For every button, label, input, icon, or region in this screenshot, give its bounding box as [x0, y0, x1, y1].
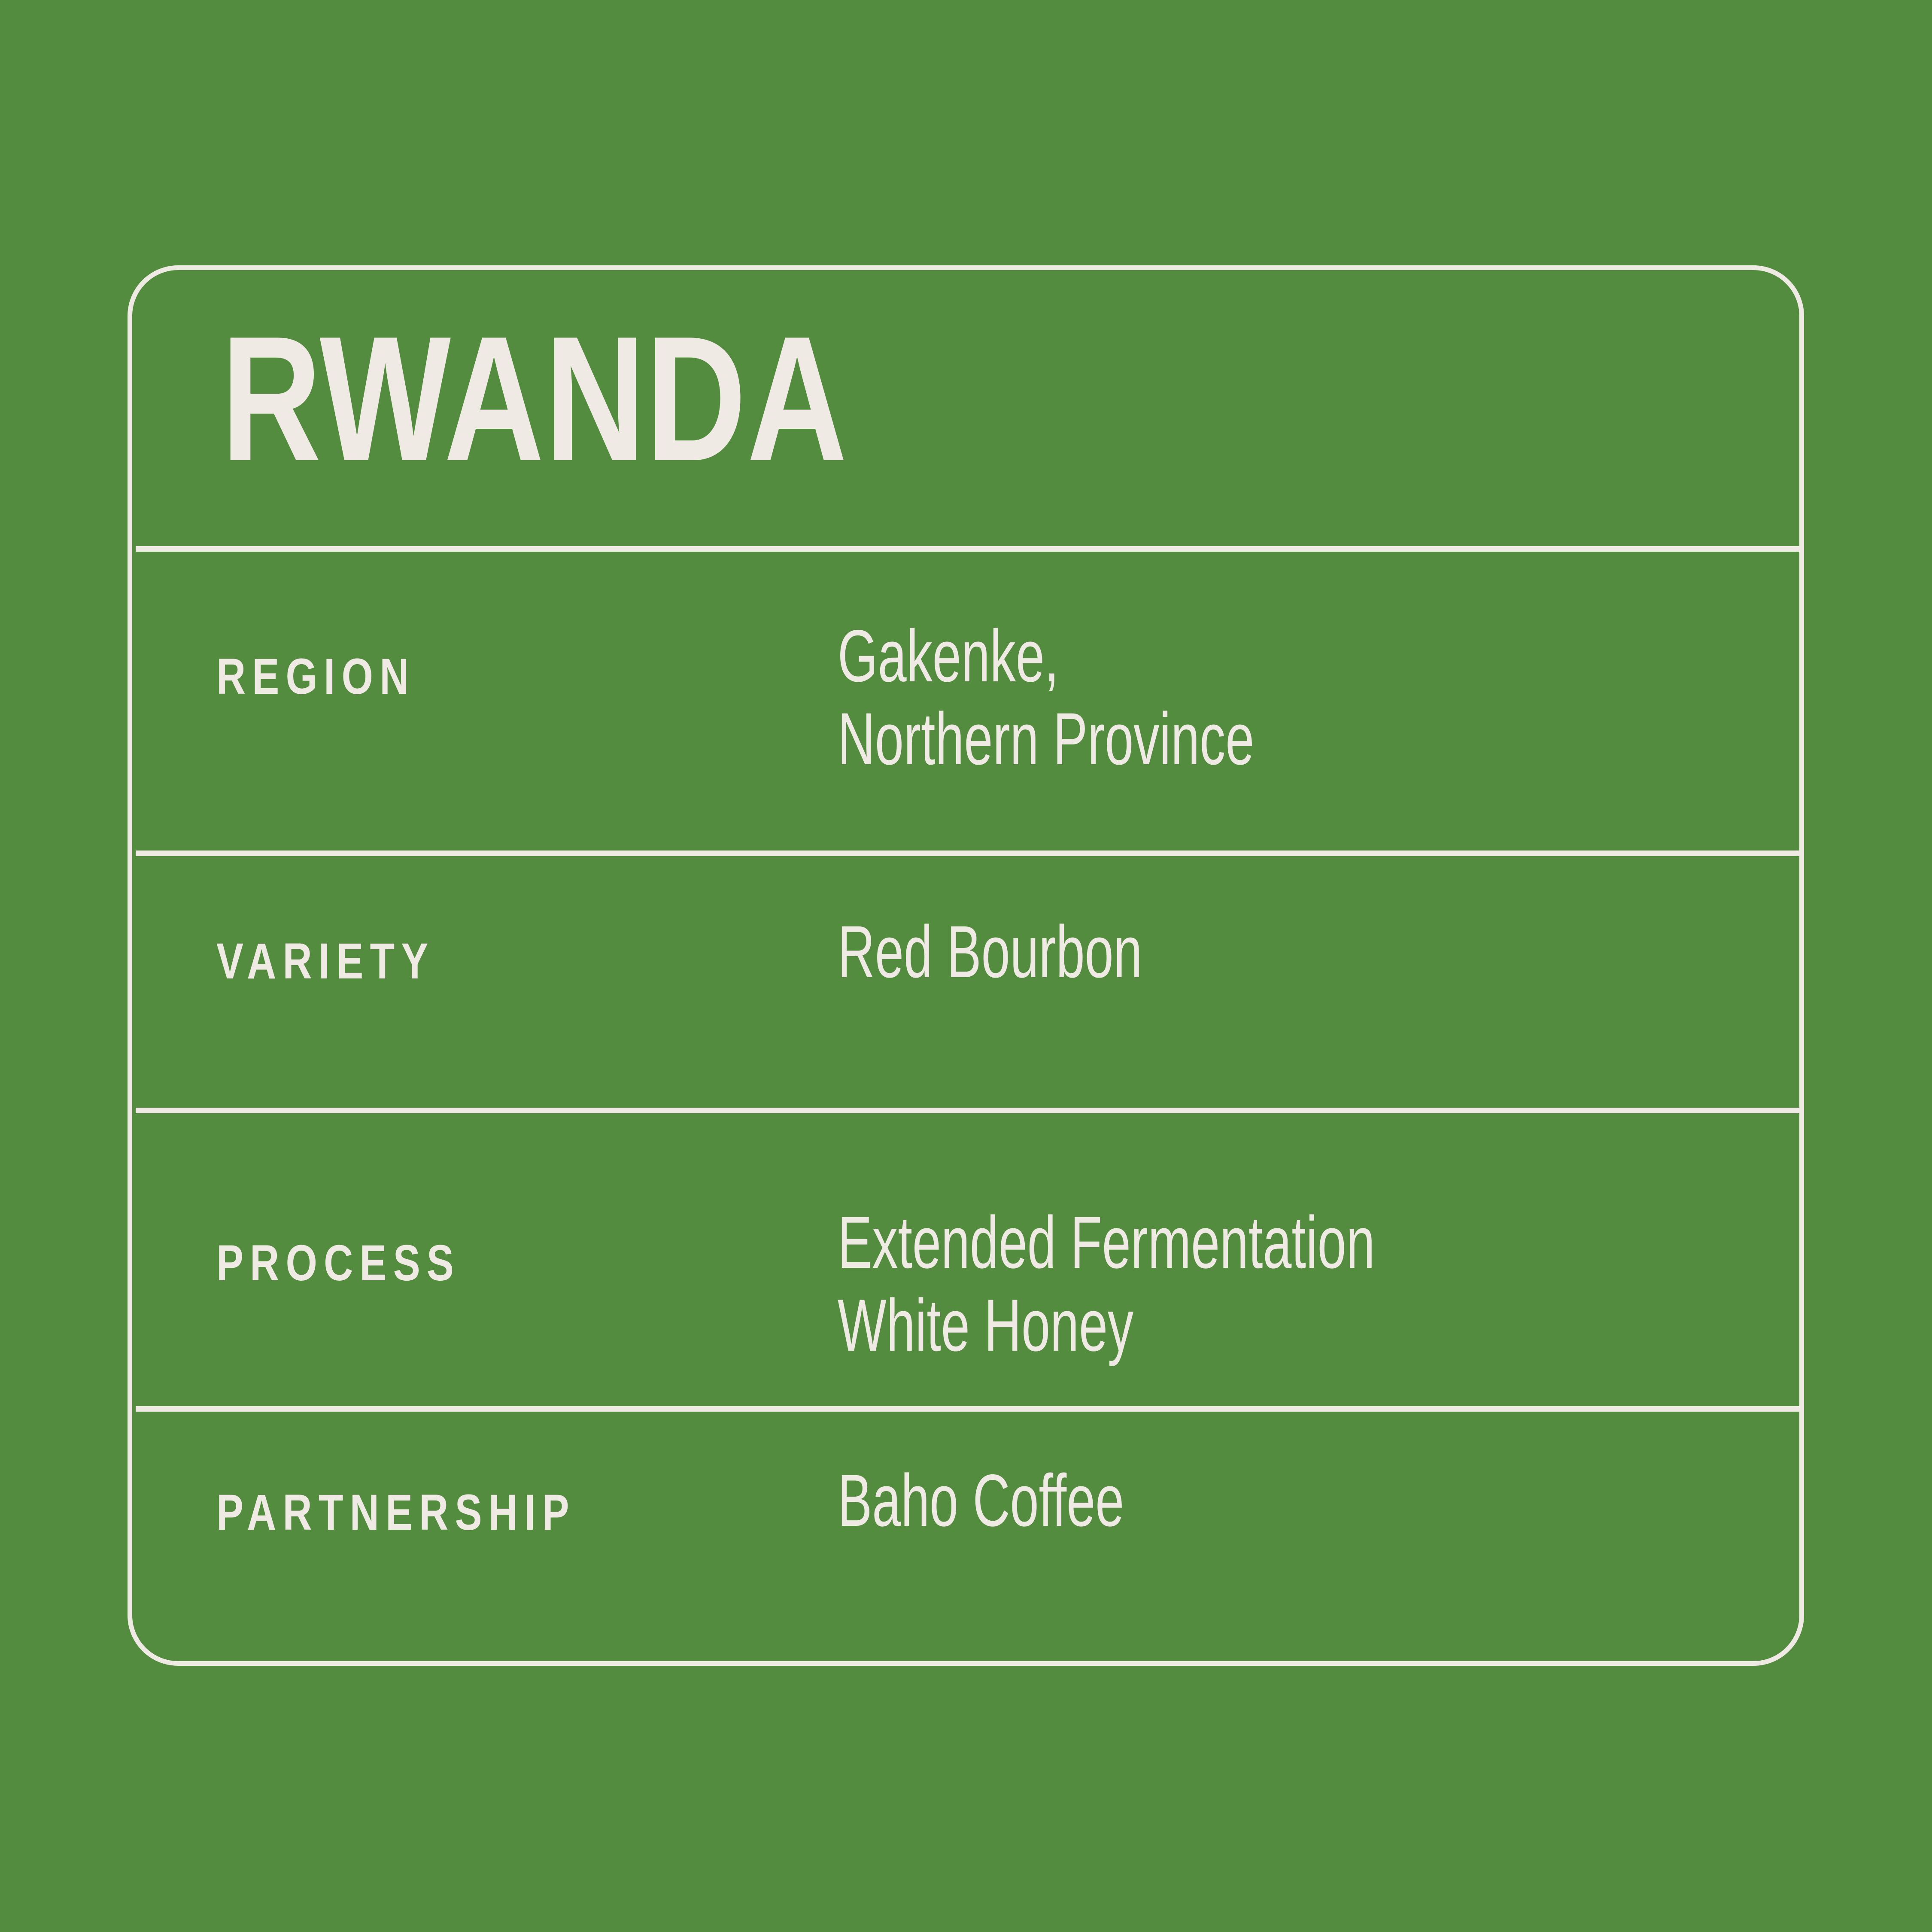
origin-title: RWANDA [221, 334, 848, 463]
coffee-origin-spec-card: RWANDA REGION Gakenke, Northern Province… [128, 265, 1804, 1666]
spec-label-partnership: PARTNERSHIP [216, 1483, 576, 1542]
spec-value-line: Gakenke, [838, 615, 1254, 698]
spec-label-process: PROCESS [216, 1234, 460, 1292]
spec-row-region: REGION Gakenke, Northern Province [132, 546, 1799, 851]
spec-row-process: PROCESS Extended Fermentation White Hone… [132, 1108, 1799, 1406]
card-title-block: RWANDA [132, 270, 1799, 546]
spec-value-partnership: Baho Coffee [838, 1459, 1124, 1542]
spec-value-line: Northern Province [838, 698, 1254, 781]
spec-value-process: Extended Fermentation White Honey [838, 1201, 1375, 1367]
spec-label-variety: VARIETY [216, 932, 435, 990]
spec-value-line: Baho Coffee [838, 1459, 1124, 1542]
spec-label-region: REGION [216, 647, 416, 706]
spec-row-variety: VARIETY Red Bourbon [132, 851, 1799, 1108]
spec-value-region: Gakenke, Northern Province [838, 615, 1254, 780]
spec-row-partnership: PARTNERSHIP Baho Coffee [132, 1406, 1799, 1671]
spec-value-line: Extended Fermentation [838, 1201, 1375, 1284]
spec-value-variety: Red Bourbon [838, 911, 1142, 993]
spec-value-line: Red Bourbon [838, 911, 1142, 993]
spec-value-line: White Honey [838, 1284, 1375, 1367]
